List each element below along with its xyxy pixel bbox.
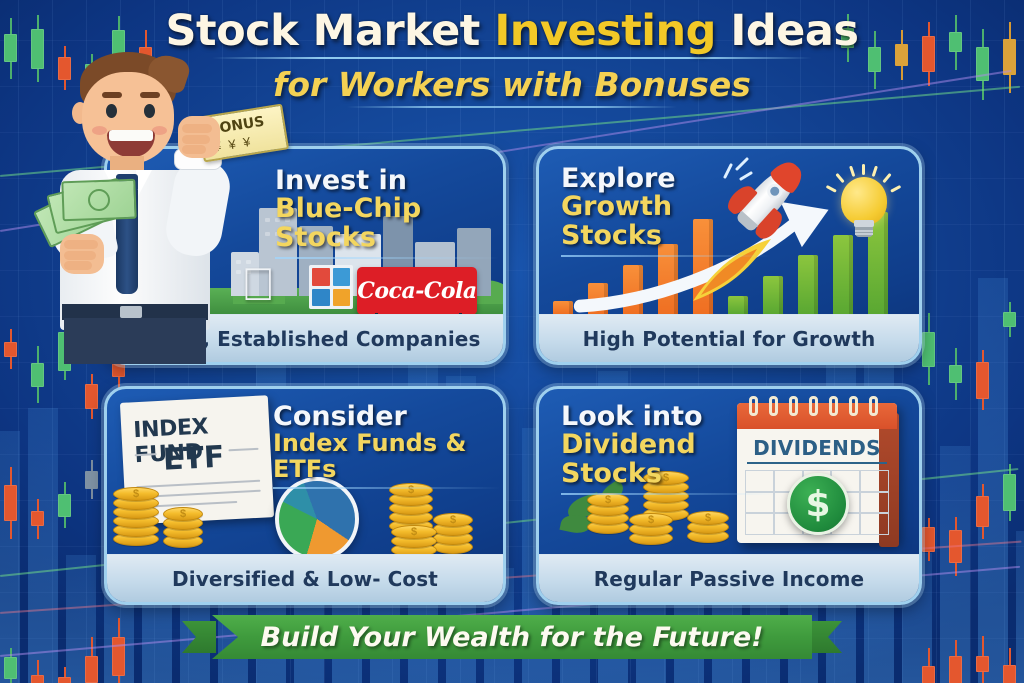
- finger: [182, 124, 212, 133]
- coin-stack: [113, 487, 159, 547]
- candlestick: [85, 460, 98, 499]
- card-3-heading: Consider Index Funds & ETFs: [273, 403, 501, 489]
- candlestick: [4, 467, 17, 539]
- card-2-footer-label: High Potential for Growth: [583, 327, 876, 351]
- card-4-heading-line1: Look into: [561, 403, 777, 431]
- allocation-pie-chart: [275, 477, 359, 561]
- card-2-heading-rule: [561, 255, 771, 257]
- page-title: Stock Market Investing Ideas: [0, 10, 1024, 54]
- card-4-illustration: DIVIDENDS $ Look into Dividend Stocks: [539, 389, 919, 554]
- candlestick: [1003, 302, 1016, 337]
- card-3-footer-label: Diversified & Low- Cost: [172, 567, 438, 591]
- bulb-ray: [890, 185, 901, 193]
- finger: [182, 145, 206, 154]
- gold-coin: [391, 525, 437, 539]
- candle-body: [1003, 665, 1016, 683]
- coin-stack: [433, 513, 473, 555]
- candlestick: [31, 499, 44, 539]
- title-part-1: Stock Market: [166, 6, 495, 56]
- candle-body: [31, 675, 44, 683]
- bottom-banner: Build Your Wealth for the Future!: [0, 615, 1024, 665]
- calendar-ring: [789, 396, 798, 416]
- collar-right: [136, 170, 152, 200]
- calendar-ring: [849, 396, 858, 416]
- candle-body: [976, 496, 989, 527]
- hand-left: [60, 234, 104, 274]
- dollar-symbol: $: [805, 484, 830, 525]
- card-1-heading: Invest in Blue-Chip Stocks: [275, 167, 499, 259]
- gold-coin: [687, 511, 729, 525]
- card-2-illustration: Explore Growth Stocks: [539, 149, 919, 314]
- card-index-funds-etfs[interactable]: INDEX FUND ETF Consider Index Funds & ET…: [104, 386, 506, 605]
- coin-stack: [587, 493, 629, 535]
- candlestick: [976, 484, 989, 539]
- candle-body: [58, 677, 71, 683]
- card-4-footer: Regular Passive Income: [539, 554, 919, 602]
- coin-stack: [687, 511, 729, 544]
- candle-body: [976, 362, 989, 399]
- card-4-footer-label: Regular Passive Income: [594, 567, 864, 591]
- infographic-root: Stock Market Investing Ideas for Workers…: [0, 0, 1024, 683]
- candlestick: [58, 482, 71, 528]
- finger: [64, 261, 92, 270]
- card-3-heading-rule: [273, 487, 501, 489]
- candle-body: [85, 471, 98, 489]
- ribbon: Build Your Wealth for the Future!: [212, 615, 812, 659]
- card-2-heading: Explore Growth Stocks: [561, 165, 771, 257]
- coca-cola-wordmark: Coca-Cola: [357, 278, 476, 304]
- card-4-heading-rule: [561, 493, 777, 495]
- card-growth-stocks[interactable]: Explore Growth Stocks High Potential for…: [536, 146, 922, 365]
- finger: [64, 251, 96, 260]
- finger: [64, 240, 98, 249]
- card-3-heading-line1: Consider: [273, 403, 501, 431]
- candle-body: [31, 363, 44, 387]
- candlestick: [922, 518, 935, 561]
- bulb-rays: [835, 177, 893, 239]
- hand-right: [178, 116, 220, 158]
- teeth: [109, 130, 153, 141]
- gold-coin: [163, 507, 203, 521]
- gold-coin: [113, 487, 159, 501]
- card-3-heading-line2: Index Funds & ETFs: [273, 431, 501, 481]
- dollar-badge-icon: $: [787, 473, 849, 535]
- card-1-heading-rule: [275, 257, 499, 259]
- coin-stack: [629, 513, 673, 546]
- gold-coin: [587, 493, 629, 507]
- card-1-heading-line1: Invest in: [275, 167, 499, 195]
- eyebrow-left: [102, 92, 122, 98]
- candle-body: [4, 342, 17, 357]
- bulb-ray: [826, 185, 837, 193]
- bulb-ray: [849, 166, 855, 177]
- finger: [182, 135, 210, 144]
- microsoft-logo-icon: [309, 265, 353, 309]
- banner-text: Build Your Wealth for the Future!: [261, 622, 764, 653]
- cheek-left: [92, 126, 107, 135]
- candle-body: [31, 511, 44, 526]
- title-underline: [212, 57, 812, 59]
- bulb-ray: [882, 173, 891, 183]
- card-2-heading-line2: Growth Stocks: [561, 193, 771, 250]
- candle-body: [58, 494, 71, 517]
- card-4-heading: Look into Dividend Stocks: [561, 403, 777, 495]
- candle-body: [85, 384, 98, 409]
- card-3-illustration: INDEX FUND ETF Consider Index Funds & ET…: [107, 389, 503, 554]
- ribbon-tail-left: [182, 621, 216, 653]
- card-4-heading-line2: Dividend Stocks: [561, 431, 777, 488]
- candlestick: [31, 346, 44, 403]
- title-part-2: Ideas: [716, 6, 859, 56]
- candlestick: [949, 348, 962, 400]
- candlestick: [976, 350, 989, 410]
- coin-stack: [163, 507, 203, 549]
- bulb-ray: [872, 166, 878, 177]
- coca-cola-logo-icon: Coca-Cola: [357, 267, 477, 315]
- eyebrow-right: [140, 92, 160, 98]
- trousers: [64, 318, 206, 364]
- businessman-character: BONUS ¥ ¥ ¥: [52, 52, 302, 362]
- candlestick: [4, 329, 17, 369]
- candle-body: [4, 485, 17, 521]
- card-1-heading-line2: Blue-Chip Stocks: [275, 195, 499, 252]
- title-highlight: Investing: [494, 6, 716, 56]
- gold-coin: [433, 513, 473, 527]
- ribbon-tail-right: [808, 621, 842, 653]
- calendar-ring: [809, 396, 818, 416]
- subtitle-underline: [347, 106, 677, 108]
- calendar-ring: [829, 396, 838, 416]
- doc-title-line2: ETF: [162, 440, 225, 478]
- card-2-footer: High Potential for Growth: [539, 314, 919, 362]
- candlestick: [85, 374, 98, 419]
- candlestick: [922, 313, 935, 385]
- calendar-ring: [869, 396, 878, 416]
- gold-coin: [629, 513, 673, 527]
- candle-body: [922, 332, 935, 367]
- candlestick: [58, 667, 71, 683]
- candle-body: [1003, 312, 1016, 327]
- candle-body: [1003, 474, 1016, 511]
- bulb-ray: [835, 173, 844, 183]
- candle-body: [949, 365, 962, 383]
- eye-right: [144, 104, 155, 118]
- bulb-ray: [862, 164, 865, 175]
- money-bill: [61, 179, 136, 222]
- eye-left: [106, 104, 117, 118]
- card-3-footer: Diversified & Low- Cost: [107, 554, 503, 602]
- candle-body: [922, 666, 935, 683]
- card-dividend-stocks[interactable]: DIVIDENDS $ Look into Dividend Stocks: [536, 386, 922, 605]
- belt-buckle: [120, 306, 142, 318]
- candlestick: [1003, 464, 1016, 521]
- card-2-heading-line1: Explore: [561, 165, 771, 193]
